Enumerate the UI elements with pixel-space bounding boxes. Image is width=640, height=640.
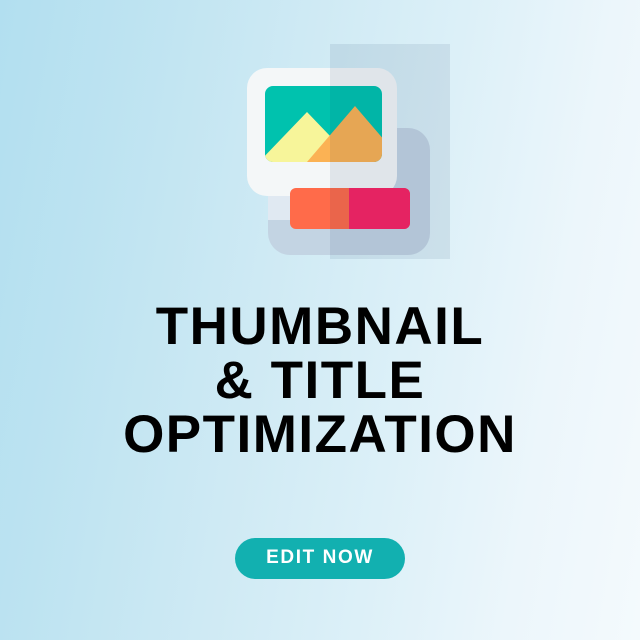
- edit-now-button[interactable]: EDIT NOW: [235, 538, 405, 579]
- title-line-3: OPTIMIZATION: [0, 408, 640, 462]
- color-bar-right-shape: [349, 188, 410, 229]
- title-line-2: & TITLE: [0, 354, 640, 408]
- photo-thumbnail-shape: [265, 86, 382, 162]
- mountain-right-shape: [307, 106, 382, 162]
- image-thumbnail-icon: [220, 44, 420, 259]
- page-title: THUMBNAIL & TITLE OPTIMIZATION: [0, 300, 640, 462]
- promo-card: THUMBNAIL & TITLE OPTIMIZATION EDIT NOW: [0, 0, 640, 640]
- title-line-1: THUMBNAIL: [0, 300, 640, 354]
- icon-area: [0, 44, 640, 294]
- cta-container: EDIT NOW: [0, 538, 640, 579]
- color-bar-shape: [290, 188, 410, 229]
